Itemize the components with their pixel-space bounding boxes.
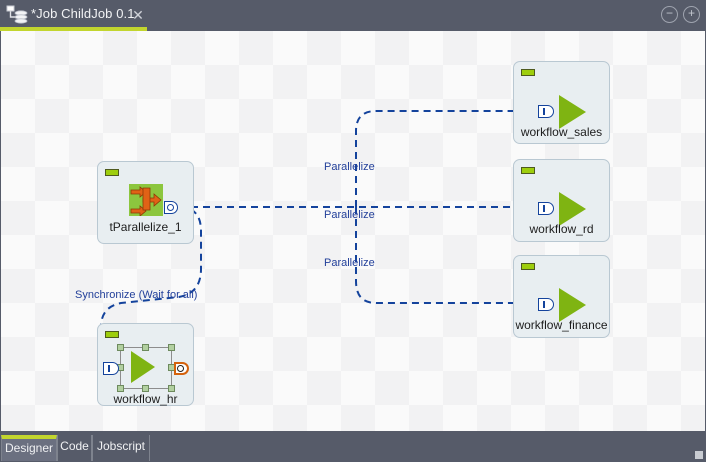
node-label-workflow-sales: workflow_sales [514, 125, 609, 139]
node-label-workflow-rd: workflow_rd [514, 222, 609, 236]
workflow-hr-output-port[interactable] [174, 362, 189, 375]
link-path-sales [356, 111, 533, 207]
close-icon[interactable]: ✕ [131, 8, 145, 22]
link-label-rd[interactable]: Parallelize [324, 209, 375, 221]
job-designer-window: *Job ChildJob 0.1 ✕ − + Parallelize Para… [0, 0, 706, 462]
tparallelize-icon [129, 184, 163, 216]
link-label-sales[interactable]: Parallelize [324, 161, 375, 173]
selection-handle[interactable] [168, 344, 175, 351]
selection-handle[interactable] [168, 385, 175, 392]
node-status-flag-icon [105, 169, 119, 176]
resize-grip[interactable] [695, 451, 703, 459]
subjob-run-icon [559, 288, 586, 322]
node-status-flag-icon [521, 69, 535, 76]
maximize-button[interactable]: + [683, 6, 700, 23]
tab-designer[interactable]: Designer [1, 435, 57, 461]
subjob-run-icon [559, 95, 586, 129]
node-workflow-sales[interactable]: workflow_sales [513, 61, 610, 144]
node-status-flag-icon [105, 331, 119, 338]
node-status-flag-icon [521, 263, 535, 270]
node-label-tparallelize: tParallelize_1 [98, 220, 193, 234]
node-status-flag-icon [521, 167, 535, 174]
selection-handle[interactable] [117, 344, 124, 351]
subjob-run-icon [559, 192, 586, 226]
tparallelize-output-port[interactable] [164, 201, 178, 214]
node-workflow-rd[interactable]: workflow_rd [513, 159, 610, 242]
node-label-workflow-finance: workflow_finance [514, 318, 609, 332]
node-workflow-finance[interactable]: workflow_finance [513, 255, 610, 338]
title-bar: *Job ChildJob 0.1 ✕ − + [0, 0, 706, 31]
node-label-workflow-hr: workflow_hr [98, 392, 193, 406]
selection-handle[interactable] [117, 385, 124, 392]
tab-code[interactable]: Code [57, 435, 92, 461]
link-path-finance [356, 207, 533, 303]
link-label-finance[interactable]: Parallelize [324, 257, 375, 269]
selection-handle[interactable] [142, 385, 149, 392]
tab-jobscript[interactable]: Jobscript [92, 435, 150, 461]
workflow-hr-input-port[interactable] [103, 362, 119, 375]
job-canvas[interactable]: Parallelize Parallelize Parallelize Sync… [1, 31, 705, 431]
link-label-sync[interactable]: Synchronize (Wait for all) [75, 289, 197, 301]
tab-title[interactable]: *Job ChildJob 0.1 [31, 6, 135, 21]
subjob-run-icon [131, 351, 155, 383]
selection-handle[interactable] [142, 344, 149, 351]
node-tparallelize[interactable]: tParallelize_1 [97, 161, 194, 244]
node-workflow-hr[interactable]: workflow_hr [97, 323, 194, 406]
workflow-rd-input-port[interactable] [538, 202, 554, 215]
workflow-sales-input-port[interactable] [538, 105, 554, 118]
bottom-tab-bar: Designer Code Jobscript [1, 431, 705, 461]
job-hierarchy-icon [6, 5, 28, 26]
minimize-button[interactable]: − [661, 6, 678, 23]
workflow-finance-input-port[interactable] [538, 298, 554, 311]
